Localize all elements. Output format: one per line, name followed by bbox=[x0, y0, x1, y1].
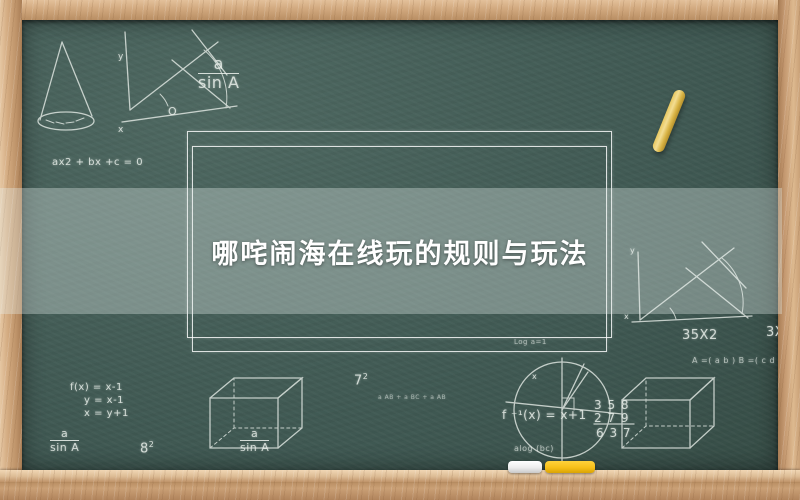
axis-x-line bbox=[122, 106, 237, 122]
formula-a-over-sina: a sin A bbox=[198, 56, 239, 92]
cone-hatch bbox=[46, 118, 84, 124]
cone-base-ellipse bbox=[38, 112, 94, 130]
y-equation: y = x-1 bbox=[84, 395, 124, 406]
circle-radius-1 bbox=[562, 364, 584, 410]
mul-3x2: 3X2 bbox=[766, 325, 778, 340]
axis-y-line bbox=[125, 32, 130, 110]
quadratic-equation: ax2 + bx +c = 0 bbox=[52, 157, 143, 168]
white-chalk-icon bbox=[508, 461, 542, 473]
page-title: 哪咤闹海在线玩的规则与玩法 bbox=[0, 188, 800, 314]
mul-35x2: 35X2 bbox=[682, 328, 718, 343]
fraction-a-sina-2: a sin A bbox=[50, 428, 79, 454]
axis-x-line-2 bbox=[632, 316, 752, 322]
cube2-top-face bbox=[622, 378, 714, 400]
cone-left-edge bbox=[40, 42, 62, 120]
frame-bottom-rail bbox=[0, 482, 800, 500]
frame-top-rail bbox=[0, 0, 800, 20]
chalk-ledge bbox=[0, 470, 800, 482]
cube2-hidden-edges bbox=[622, 378, 714, 448]
division-row-3: 6 3 7 bbox=[596, 426, 632, 440]
chalkboard-banner: a sin A ax2 + bx +c = 0 y x O f(x) = x-1… bbox=[0, 0, 800, 500]
angle-label: O bbox=[168, 105, 177, 118]
axis-y-label: y bbox=[118, 52, 124, 62]
inverse-function: f ⁻¹(x) = x+1 bbox=[502, 408, 587, 422]
fx-equation: f(x) = x-1 bbox=[70, 382, 123, 393]
cone-right-edge bbox=[62, 42, 92, 116]
division-row-2: 2 7 9 bbox=[594, 411, 630, 425]
division-row-1: 3 5 8 bbox=[594, 398, 630, 412]
small-equation: a AB + a BC + a AB bbox=[378, 394, 446, 401]
cube-right-face bbox=[278, 378, 302, 448]
angle-arc bbox=[160, 94, 168, 106]
matrix-note: A =( a b ) B =( c d ) I =( 1 0 ) bbox=[692, 356, 778, 365]
seven-squared: 72 bbox=[354, 372, 368, 388]
circle-x-label: x bbox=[532, 372, 537, 381]
alog-expression: alog (bc) bbox=[514, 444, 554, 453]
cube2-right-face bbox=[690, 378, 714, 448]
fraction-a-sina-3: a sin A bbox=[240, 428, 269, 454]
x-equation: x = y+1 bbox=[84, 408, 129, 419]
circle-radius-2 bbox=[562, 372, 588, 410]
eight-squared: 82 bbox=[140, 440, 154, 456]
axis-x-label: x bbox=[118, 125, 124, 135]
cube-top-face bbox=[210, 378, 302, 398]
yellow-chalk-icon bbox=[545, 461, 595, 473]
